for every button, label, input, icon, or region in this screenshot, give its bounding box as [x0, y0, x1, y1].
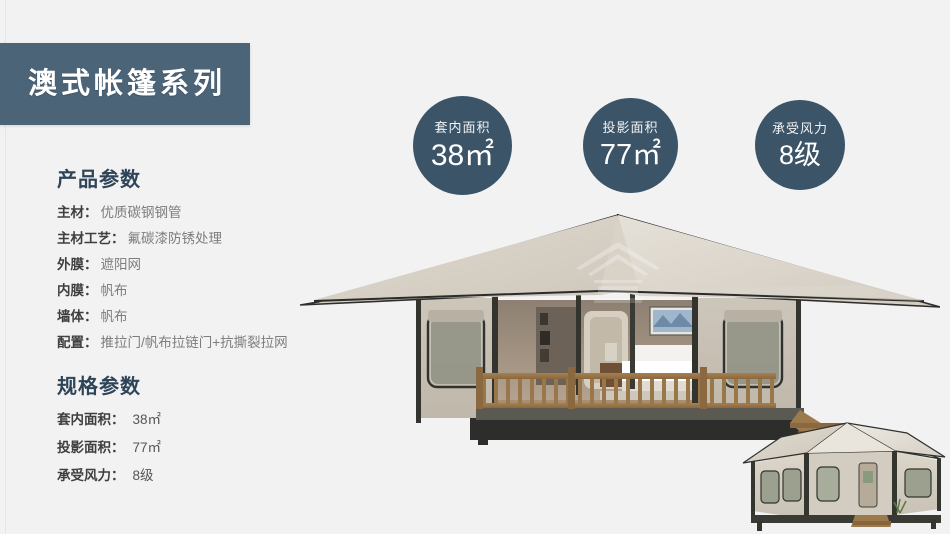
sub-post-a — [804, 451, 809, 521]
railing-post-mid — [568, 367, 575, 409]
spec-row: 套内面积：38㎡ — [57, 409, 330, 430]
spec-label: 承受风力： — [57, 468, 125, 483]
sub-window-1 — [761, 471, 779, 503]
param-label: 外膜： — [57, 257, 98, 272]
spec-label: 投影面积： — [57, 440, 125, 455]
specification-parameters-section: 规格参数 套内面积：38㎡ 投影面积：77㎡ 承受风力：8级 — [0, 370, 330, 493]
param-value: 帆布 — [101, 283, 128, 298]
stat-value: 38㎡ — [431, 140, 494, 172]
title-banner: 澳式帐篷系列 — [0, 43, 250, 125]
param-label: 墙体： — [57, 309, 98, 324]
stat-circle-wind-resistance: 承受风力 8级 — [755, 100, 845, 190]
spec-row: 承受风力：8级 — [57, 465, 330, 486]
stat-value: 77㎡ — [600, 140, 661, 170]
main-tent-render — [300, 195, 940, 445]
stat-label: 投影面积 — [602, 120, 658, 136]
param-label: 配置： — [57, 335, 98, 350]
table-lamp — [605, 343, 617, 361]
page-title: 澳式帐篷系列 — [28, 70, 226, 99]
param-value: 氟碳漆防锈处理 — [128, 231, 223, 246]
section-heading-product: 产品参数 — [57, 163, 330, 192]
deck-leg-left — [478, 438, 488, 445]
param-row: 主材工艺：氟碳漆防锈处理 — [57, 228, 330, 249]
param-value: 优质碳钢钢管 — [101, 205, 182, 220]
stat-label: 承受风力 — [772, 121, 828, 137]
window-shade-left — [428, 310, 484, 322]
roof-left-face — [314, 215, 630, 300]
spec-row: 投影面积：77㎡ — [57, 437, 330, 458]
spec-value: 8级 — [133, 468, 154, 483]
secondary-tent-render — [735, 415, 950, 534]
slide-page: 澳式帐篷系列 产品参数 主材：优质碳钢钢管 主材工艺：氟碳漆防锈处理 外膜：遮阳… — [0, 0, 950, 534]
post-far-right — [796, 295, 801, 423]
stat-label: 套内面积 — [434, 120, 490, 136]
railing-top-rail — [476, 373, 776, 379]
spec-label: 套内面积： — [57, 412, 125, 427]
sub-window-4 — [905, 469, 931, 497]
param-value: 遮阳网 — [101, 257, 142, 272]
railing-post-right — [700, 367, 707, 409]
param-label: 内膜： — [57, 283, 98, 298]
param-row: 配置：推拉门/帆布拉链门+抗撕裂拉网 — [57, 332, 330, 353]
secondary-tent-illustration — [735, 415, 950, 534]
sub-post-d — [937, 459, 941, 511]
post-far-left — [416, 295, 421, 423]
stat-circle-projected-area: 投影面积 77㎡ — [583, 98, 678, 193]
product-parameters-section: 产品参数 主材：优质碳钢钢管 主材工艺：氟碳漆防锈处理 外膜：遮阳网 内膜：帆布… — [0, 163, 330, 358]
bed-pillows — [630, 345, 696, 363]
window-shade-right — [724, 310, 782, 322]
sub-post-c — [751, 461, 755, 517]
stat-value: 8级 — [779, 141, 821, 169]
sub-window-2 — [783, 469, 801, 501]
param-row: 主材：优质碳钢钢管 — [57, 202, 330, 223]
section-heading-spec: 规格参数 — [57, 370, 330, 399]
stat-circle-interior-area: 套内面积 38㎡ — [413, 96, 512, 195]
param-label: 主材： — [57, 205, 98, 220]
param-row: 墙体：帆布 — [57, 306, 330, 327]
param-row: 内膜：帆布 — [57, 280, 330, 301]
sub-base — [751, 515, 941, 523]
main-tent-illustration — [300, 195, 940, 445]
railing-post-left — [476, 367, 483, 409]
param-value: 帆布 — [101, 309, 128, 324]
spec-value: 38㎡ — [133, 412, 162, 427]
spec-value: 77㎡ — [133, 440, 162, 455]
param-label: 主材工艺： — [57, 231, 125, 246]
sub-window-3 — [817, 467, 839, 501]
sub-doorway — [859, 463, 877, 507]
param-value: 推拉门/帆布拉链门+抗撕裂拉网 — [101, 335, 288, 350]
param-row: 外膜：遮阳网 — [57, 254, 330, 275]
